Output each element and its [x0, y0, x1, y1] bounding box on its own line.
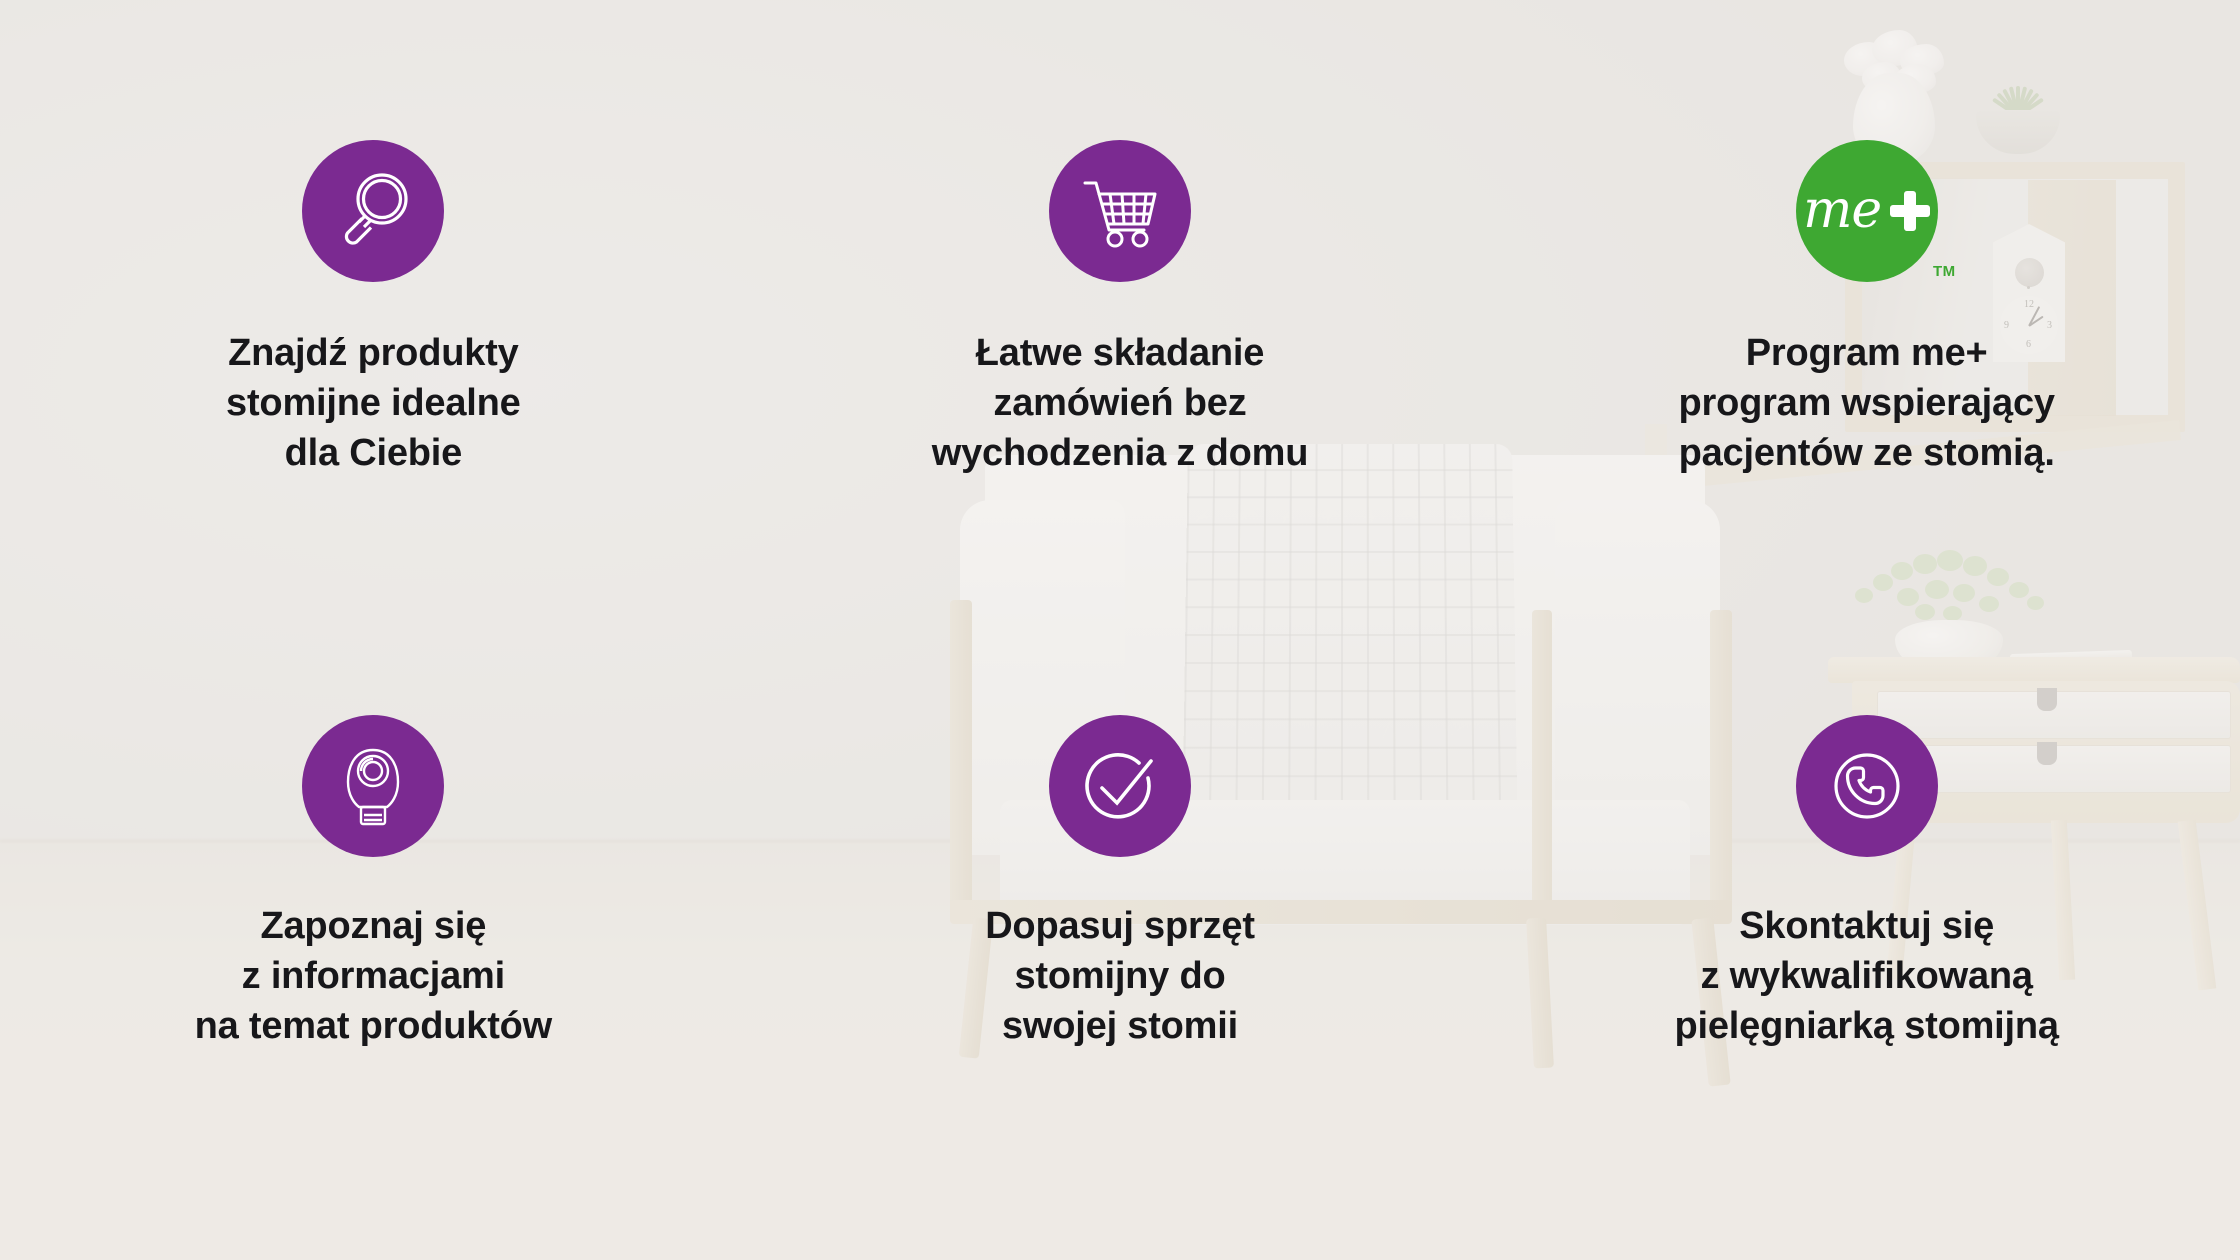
caption-line-2: z informacjami: [195, 951, 552, 1001]
feature-caption: Program me+ program wspierający pacjentó…: [1678, 328, 2054, 478]
feature-contact-nurse[interactable]: Skontaktuj się z wykwalifikowaną pielęgn…: [1493, 630, 2240, 1260]
feature-caption: Znajdź produkty stomijne idealne dla Cie…: [226, 328, 521, 478]
caption-line-1: Łatwe składanie: [932, 328, 1308, 378]
caption-line-3: dla Ciebie: [226, 428, 521, 478]
plus-icon: [1890, 191, 1930, 231]
caption-line-1: Dopasuj sprzęt: [985, 901, 1255, 951]
caption-line-3: na temat produktów: [195, 1001, 552, 1051]
caption-line-2: program wspierający: [1678, 378, 2054, 428]
trademark-symbol: TM: [1933, 263, 1956, 280]
me-plus-logo: me TM: [1796, 140, 1938, 282]
caption-line-3: wychodzenia z domu: [932, 428, 1308, 478]
feature-caption: Skontaktuj się z wykwalifikowaną pielęgn…: [1674, 901, 2058, 1051]
caption-line-2: zamówień bez: [932, 378, 1308, 428]
feature-find-products[interactable]: Znajdź produkty stomijne idealne dla Cie…: [0, 0, 747, 630]
ostomy-pouch-icon: [302, 715, 444, 857]
feature-caption: Zapoznaj się z informacjami na temat pro…: [195, 901, 552, 1051]
caption-line-2: z wykwalifikowaną: [1674, 951, 2058, 1001]
feature-easy-ordering[interactable]: Łatwe składanie zamówień bez wychodzenia…: [747, 0, 1494, 630]
caption-line-3: pacjentów ze stomią.: [1678, 428, 2054, 478]
me-plus-wordmark: me: [1803, 190, 1930, 232]
caption-line-1: Znajdź produkty: [226, 328, 521, 378]
features-grid: Znajdź produkty stomijne idealne dla Cie…: [0, 0, 2240, 1260]
caption-line-3: pielęgniarką stomijną: [1674, 1001, 2058, 1051]
feature-caption: Łatwe składanie zamówień bez wychodzenia…: [932, 328, 1308, 478]
feature-match-equipment[interactable]: Dopasuj sprzęt stomijny do swojej stomii: [747, 630, 1494, 1260]
me-text: me: [1803, 190, 1881, 232]
feature-caption: Dopasuj sprzęt stomijny do swojej stomii: [985, 901, 1255, 1051]
check-circle-icon: [1049, 715, 1191, 857]
benefits-banner: 12 3 6 9: [0, 0, 2240, 1260]
caption-line-1: Zapoznaj się: [195, 901, 552, 951]
caption-line-1: Program me+: [1678, 328, 2054, 378]
magnifier-icon: [302, 140, 444, 282]
phone-circle-icon: [1796, 715, 1938, 857]
caption-line-1: Skontaktuj się: [1674, 901, 2058, 951]
feature-me-plus-program[interactable]: me TM Program me+ program wspierający pa…: [1493, 0, 2240, 630]
caption-line-2: stomijne idealne: [226, 378, 521, 428]
shopping-cart-icon: [1049, 140, 1191, 282]
caption-line-3: swojej stomii: [985, 1001, 1255, 1051]
feature-product-information[interactable]: Zapoznaj się z informacjami na temat pro…: [0, 630, 747, 1260]
caption-line-2: stomijny do: [985, 951, 1255, 1001]
